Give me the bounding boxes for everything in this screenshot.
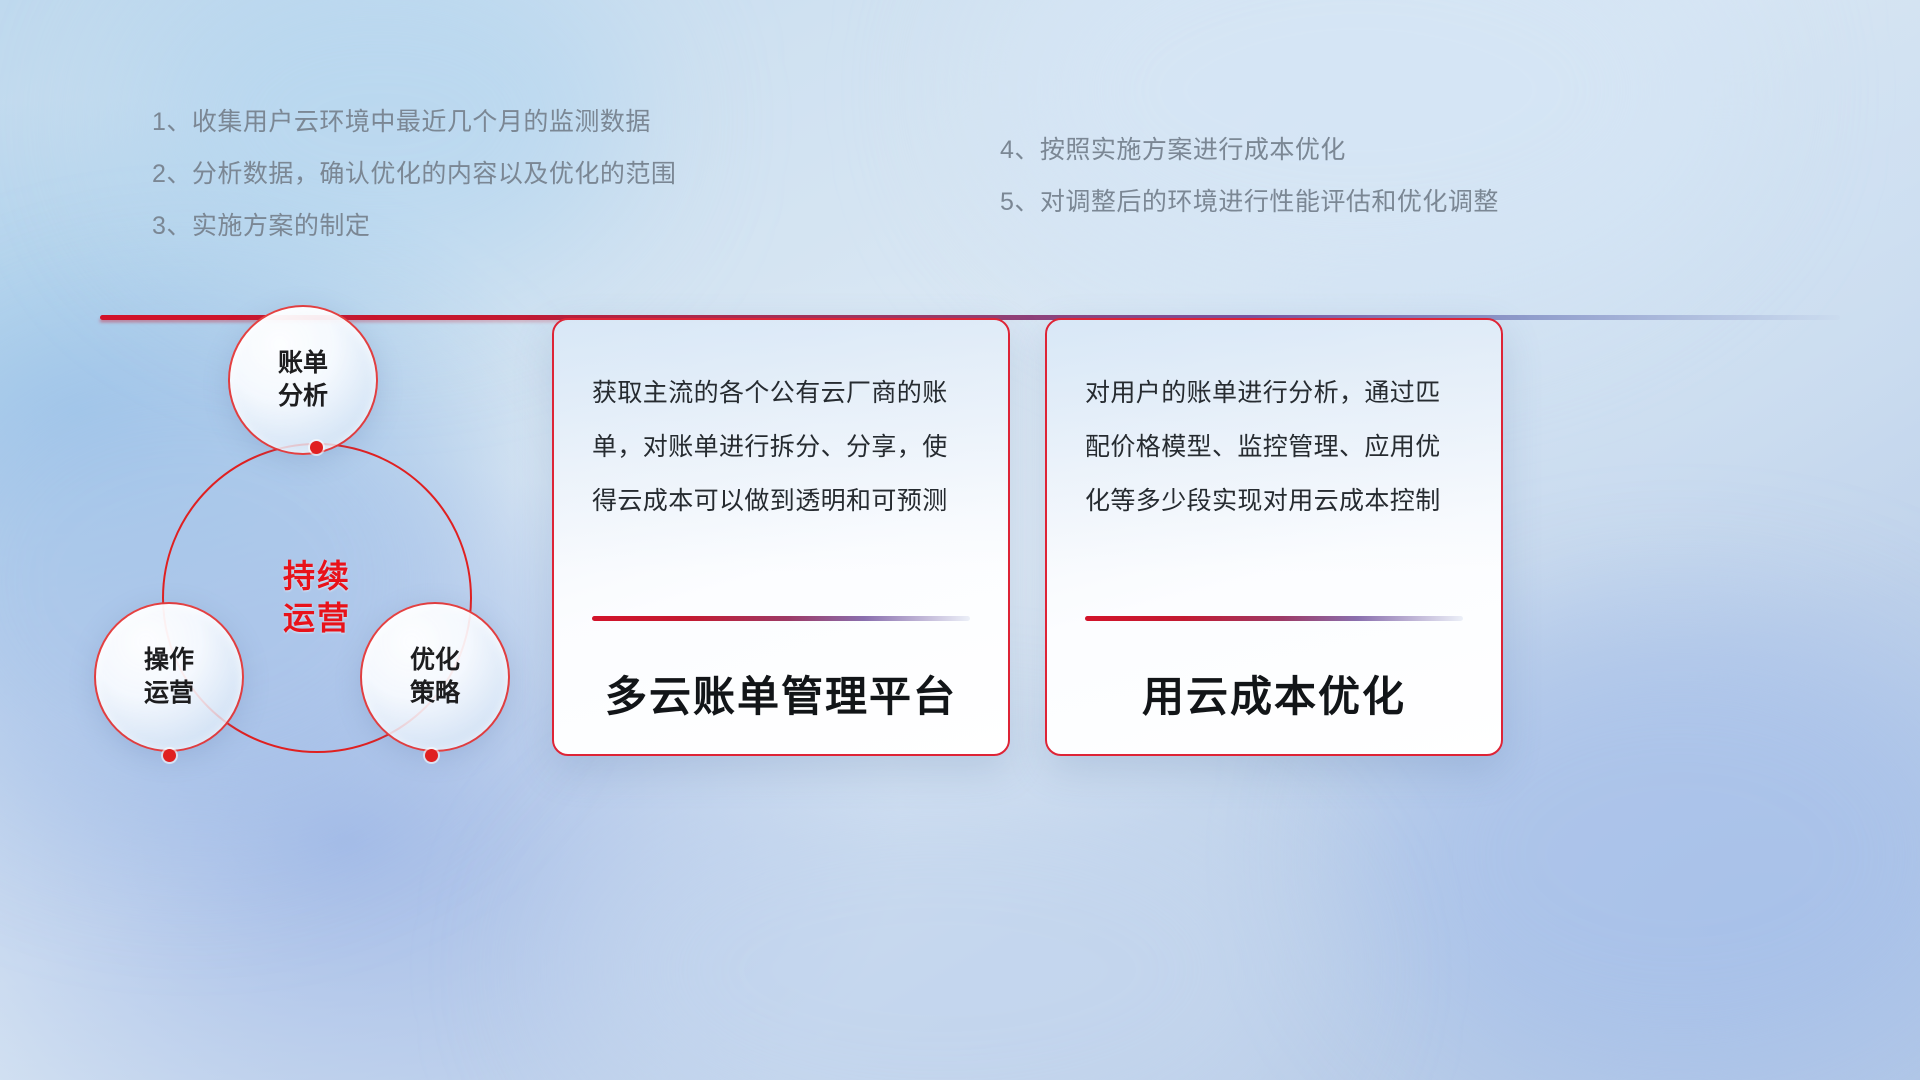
node-label-line2: 分析 (278, 380, 328, 413)
center-label-line2: 运营 (283, 598, 351, 640)
venn-node-billing-analysis[interactable]: 账单 分析 (228, 305, 378, 455)
venn-node-operations[interactable]: 操作 运营 (94, 602, 244, 752)
card-title: 多云账单管理平台 (592, 663, 970, 724)
feature-card-multicloud-billing[interactable]: 获取主流的各个公有云厂商的账单，对账单进行拆分、分享，使得云成本可以做到透明和可… (552, 318, 1010, 756)
step-item: 1、收集用户云环境中最近几个月的监测数据 (152, 96, 676, 148)
node-label-line1: 操作 (144, 644, 194, 677)
step-item: 3、实施方案的制定 (152, 200, 676, 252)
venn-node-optimization-strategy[interactable]: 优化 策略 (360, 602, 510, 752)
connector-dot-icon (163, 749, 176, 762)
steps-list-right: 4、按照实施方案进行成本优化 5、对调整后的环境进行性能评估和优化调整 (1000, 124, 1499, 228)
slide-canvas: 1、收集用户云环境中最近几个月的监测数据 2、分析数据，确认优化的内容以及优化的… (0, 0, 1920, 1080)
card-accent-rule (592, 616, 970, 621)
connector-dot-icon (310, 441, 323, 454)
card-accent-rule (1085, 616, 1463, 621)
connector-dot-icon (425, 749, 438, 762)
step-item: 5、对调整后的环境进行性能评估和优化调整 (1000, 176, 1499, 228)
center-label-line1: 持续 (283, 556, 351, 598)
card-title: 用云成本优化 (1085, 663, 1463, 724)
node-label-line2: 运营 (144, 677, 194, 710)
node-label-line1: 优化 (410, 644, 460, 677)
venn-diagram: 持续 运营 账单 分析 操作 运营 优化 策略 (80, 340, 560, 860)
step-item: 2、分析数据，确认优化的内容以及优化的范围 (152, 148, 676, 200)
steps-list-left: 1、收集用户云环境中最近几个月的监测数据 2、分析数据，确认优化的内容以及优化的… (152, 96, 676, 252)
node-label-line2: 策略 (410, 677, 460, 710)
step-item: 4、按照实施方案进行成本优化 (1000, 124, 1499, 176)
card-description: 获取主流的各个公有云厂商的账单，对账单进行拆分、分享，使得云成本可以做到透明和可… (592, 366, 970, 602)
background-blob (560, 760, 1320, 1080)
node-label-line1: 账单 (278, 347, 328, 380)
feature-card-cost-optimization[interactable]: 对用户的账单进行分析，通过匹配价格模型、监控管理、应用优化等多少段实现对用云成本… (1045, 318, 1503, 756)
card-description: 对用户的账单进行分析，通过匹配价格模型、监控管理、应用优化等多少段实现对用云成本… (1085, 366, 1463, 602)
